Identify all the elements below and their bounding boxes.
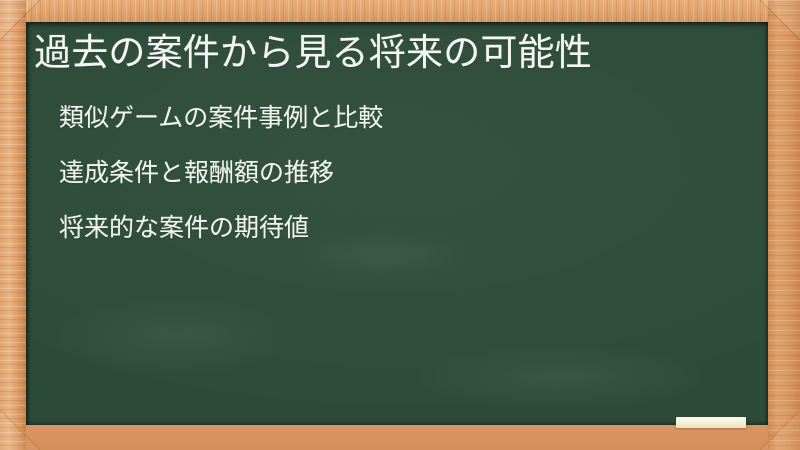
chalk-stick-icon bbox=[676, 417, 746, 428]
frame-rail-left bbox=[0, 0, 26, 450]
frame-rail-top bbox=[0, 0, 800, 22]
chalkboard-slide: 過去の案件から見る将来の可能性 類似ゲームの案件事例と比較 達成条件と報酬額の推… bbox=[0, 0, 800, 450]
list-item: 将来的な案件の期待値 bbox=[59, 215, 749, 240]
frame-rail-bottom bbox=[0, 425, 800, 450]
chalkboard-content: 過去の案件から見る将来の可能性 類似ゲームの案件事例と比較 達成条件と報酬額の推… bbox=[26, 22, 768, 425]
frame-rail-right bbox=[768, 0, 800, 450]
list-item: 達成条件と報酬額の推移 bbox=[59, 160, 749, 185]
slide-title: 過去の案件から見る将来の可能性 bbox=[34, 30, 744, 76]
bullet-list: 類似ゲームの案件事例と比較 達成条件と報酬額の推移 将来的な案件の期待値 bbox=[59, 105, 749, 240]
chalkboard-surface: 過去の案件から見る将来の可能性 類似ゲームの案件事例と比較 達成条件と報酬額の推… bbox=[26, 22, 768, 425]
list-item: 類似ゲームの案件事例と比較 bbox=[59, 105, 749, 130]
